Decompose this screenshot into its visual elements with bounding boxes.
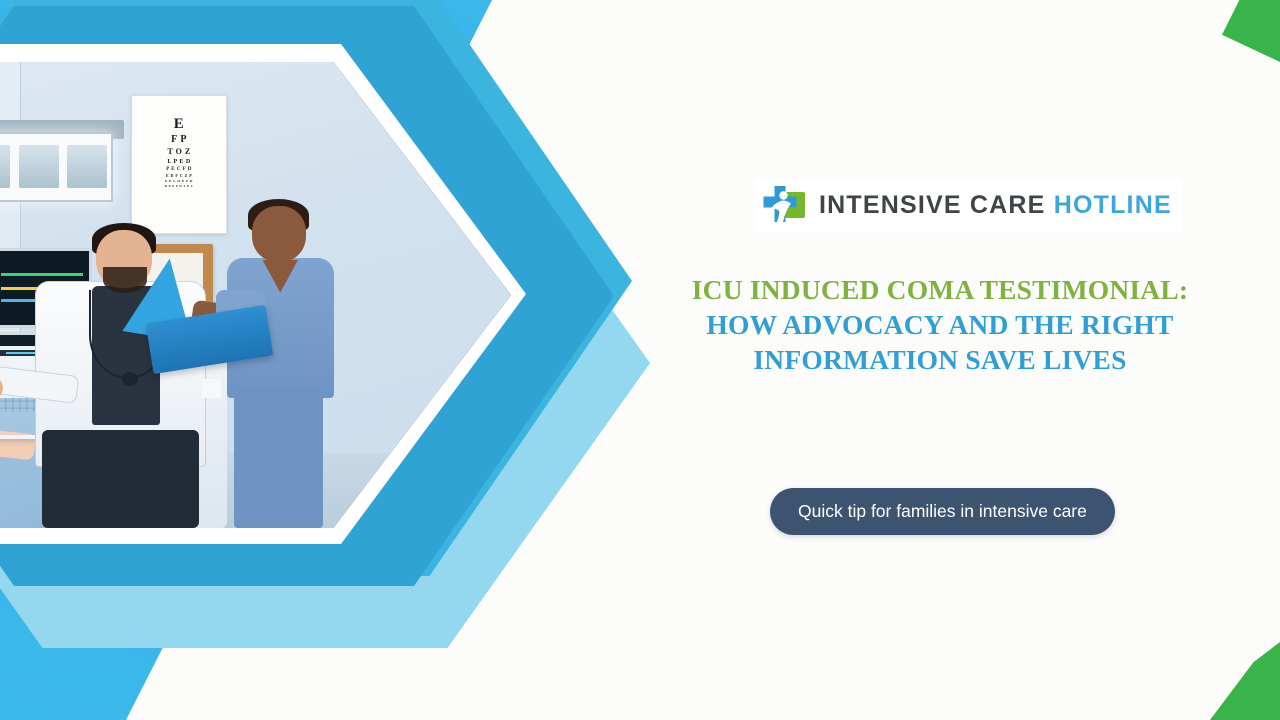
title-line-3: Information Save Lives	[660, 342, 1220, 377]
brand-name-primary: INTENSIVE CARE	[819, 191, 1046, 219]
eye-chart-row: L P E D	[167, 159, 190, 165]
photo-eye-chart: E F P T O Z L P E D P E C F D E D F C Z …	[131, 95, 227, 235]
poster-canvas: E F P T O Z L P E D P E C F D E D F C Z …	[0, 0, 1280, 720]
eye-chart-row: D E F P O T E C	[165, 185, 194, 188]
eye-chart-row: E	[174, 117, 185, 132]
page-title: ICU Induced Coma Testimonial: How Advoca…	[660, 272, 1220, 378]
photo-doctor-legs	[42, 430, 198, 528]
brand-logo[interactable]: INTENSIVE CARE HOTLINE	[755, 178, 1182, 232]
quick-tip-button[interactable]: Quick tip for families in intensive care	[770, 488, 1115, 535]
eye-chart-row: F P	[171, 135, 187, 145]
green-corner-accent-top-right	[1222, 0, 1280, 62]
content-column: INTENSIVE CARE HOTLINE ICU Induced Coma …	[660, 0, 1220, 720]
title-line-1: ICU Induced Coma Testimonial:	[660, 272, 1220, 307]
brand-name-accent: HOTLINE	[1054, 191, 1172, 219]
eye-chart-row: E D F C Z P	[166, 174, 192, 178]
photo-doctor-beard	[103, 267, 147, 293]
photo-nurse-head	[252, 206, 306, 262]
eye-chart-row: F E L O P Z D	[165, 180, 193, 184]
photo-nurse-scrub-pants	[234, 388, 323, 528]
brand-logo-text: INTENSIVE CARE HOTLINE	[819, 193, 1172, 218]
green-corner-accent-bottom-right	[1210, 642, 1280, 720]
eye-chart-row: T O Z	[167, 148, 190, 156]
medical-cross-with-person-icon	[763, 184, 805, 226]
eye-chart-row: P E C F D	[166, 167, 192, 172]
title-line-2: How Advocacy And The Right	[660, 307, 1220, 342]
photo-nurse-id-badge	[202, 379, 220, 398]
photo-xray-lightbox	[0, 132, 113, 202]
